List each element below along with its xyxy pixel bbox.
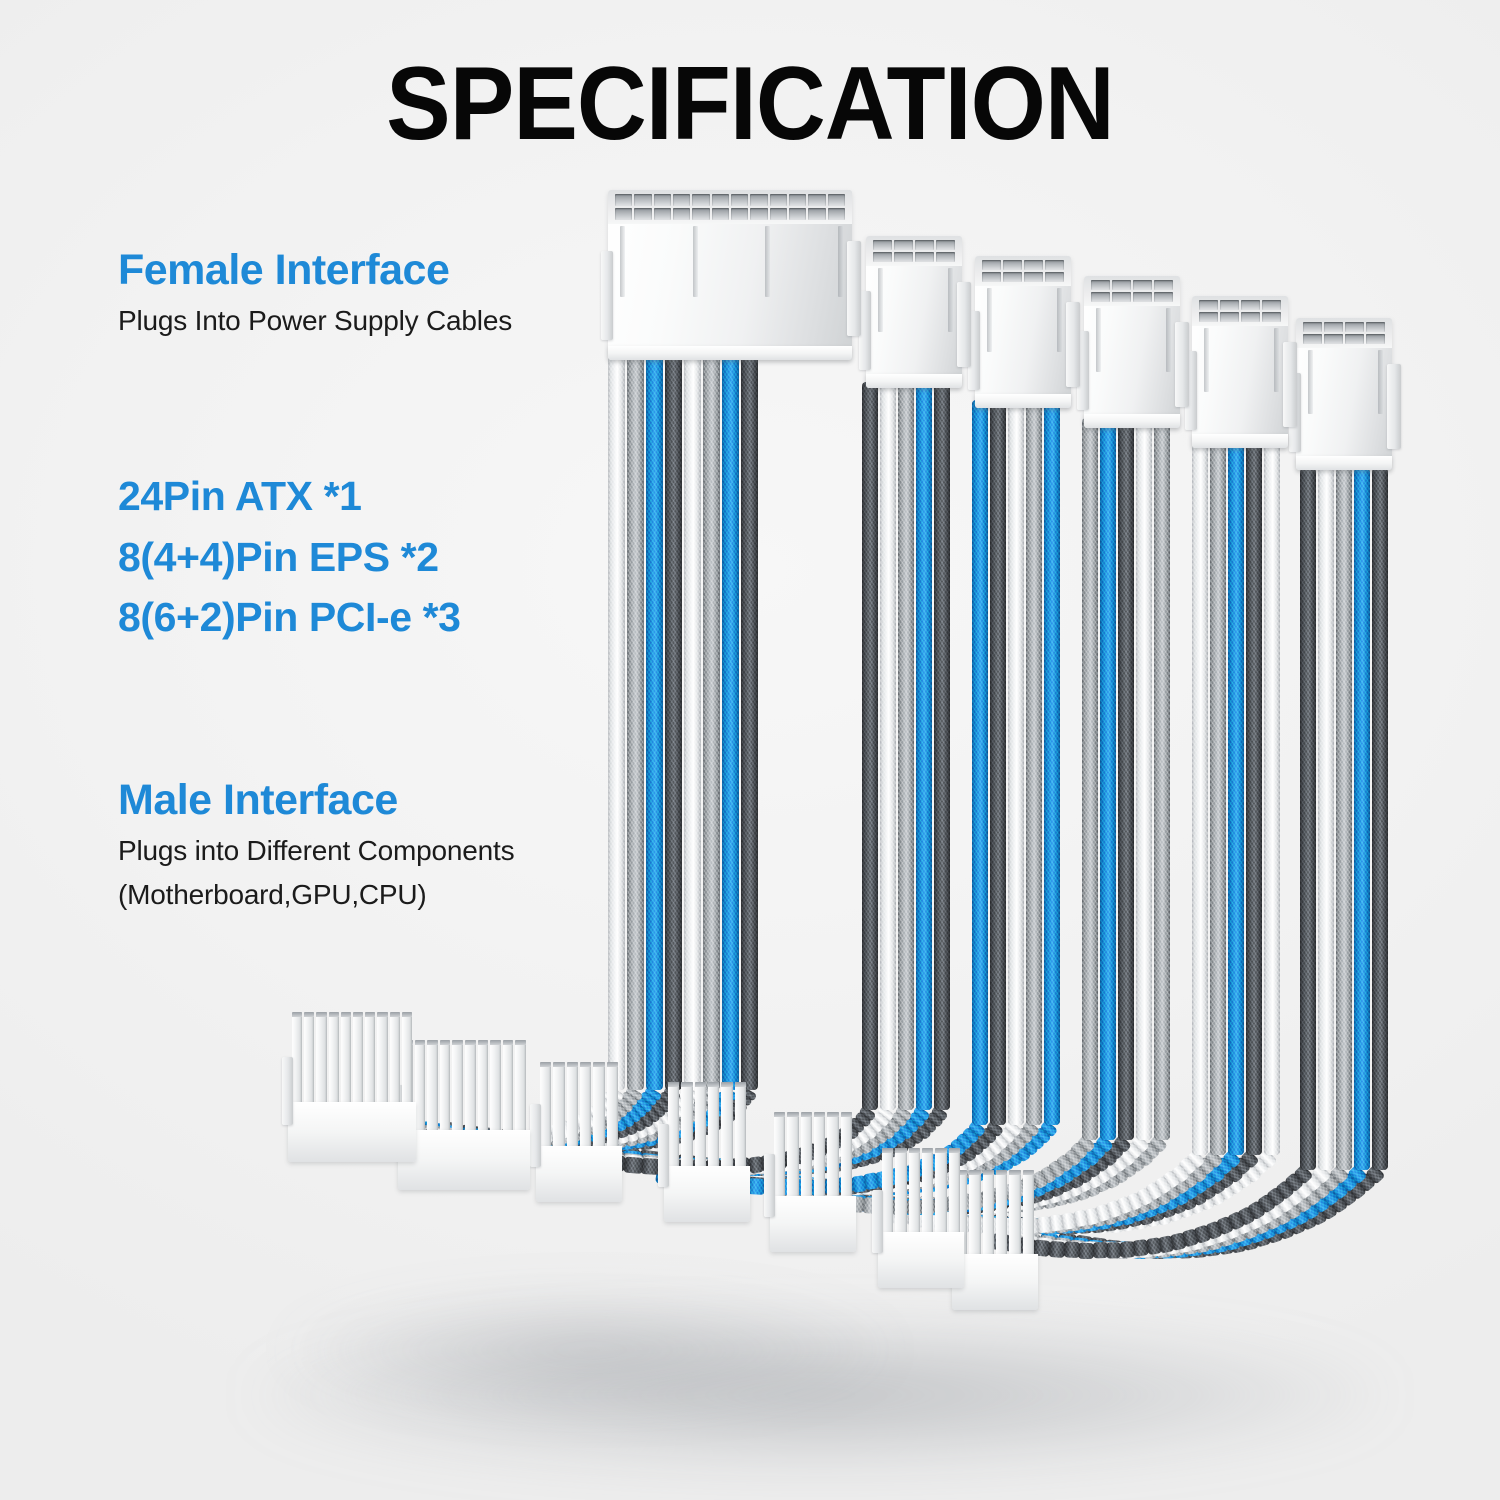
pin-blade <box>292 1012 302 1105</box>
cable-strand <box>1192 437 1208 1155</box>
pin-blade <box>708 1082 719 1169</box>
connector-rib <box>878 268 883 332</box>
pin-blade <box>365 1012 375 1105</box>
pin-hole <box>750 208 767 220</box>
connector-rib <box>1274 328 1279 392</box>
pin-hole <box>634 194 651 206</box>
pin-blade-cap <box>827 1112 838 1117</box>
pin-hole <box>1366 334 1385 344</box>
pin-blade-cap <box>814 1112 825 1117</box>
cable-strand-curve <box>1036 1216 1052 1233</box>
product-photo-cable-kit <box>0 0 1500 1500</box>
connector-collar <box>878 1232 964 1288</box>
pin-hole <box>1199 312 1218 322</box>
pin-blade <box>721 1082 732 1169</box>
pin-blade-cap <box>721 1082 732 1087</box>
pin-hole <box>1241 312 1260 322</box>
cable-strand <box>665 352 682 1090</box>
pin-blade <box>1009 1170 1020 1257</box>
pin-blade-cap <box>329 1012 339 1017</box>
pin-blade <box>316 1012 326 1105</box>
pin-hole <box>1112 280 1131 290</box>
pin-blade <box>969 1170 980 1257</box>
pin-blade-row <box>402 1040 526 1133</box>
connector-latch-rail <box>1175 322 1189 407</box>
connector-collar <box>1192 434 1288 448</box>
pin-hole <box>1003 260 1022 270</box>
pin-hole <box>1133 292 1152 302</box>
connector-collar <box>1296 456 1392 470</box>
cable-strand-curve <box>1092 1242 1108 1258</box>
female-connector-8pin-3 <box>1084 276 1180 428</box>
cable-strand <box>1154 418 1170 1140</box>
pin-hole <box>634 208 651 220</box>
connector-collar <box>952 1254 1038 1310</box>
pin-hole <box>1324 334 1343 344</box>
cable-strand <box>1026 400 1042 1125</box>
pin-blade <box>996 1170 1007 1257</box>
pin-blade <box>353 1012 363 1105</box>
pin-hole <box>1003 272 1022 282</box>
pin-blade-cap <box>503 1040 514 1045</box>
pin-blade <box>440 1040 451 1133</box>
pin-hole <box>1366 322 1385 332</box>
pin-blade-cap <box>841 1112 852 1117</box>
pin-blade-cap <box>353 1012 363 1017</box>
pin-blade <box>465 1040 476 1133</box>
connector-rib <box>1057 288 1062 352</box>
pin-hole <box>654 208 671 220</box>
cable-strand <box>898 382 914 1110</box>
pin-blade <box>341 1012 351 1105</box>
product-specification-canvas: SPECIFICATION Female Interface Plugs Int… <box>0 0 1500 1500</box>
pin-hole <box>915 240 934 250</box>
connector-collar <box>664 1166 750 1222</box>
pin-hole <box>894 252 913 262</box>
pin-blade-cap <box>983 1170 994 1175</box>
pin-hole <box>692 208 709 220</box>
pin-hole <box>808 208 825 220</box>
pin-hole <box>1220 300 1239 310</box>
pin-hole <box>1345 334 1364 344</box>
pin-blade <box>515 1040 526 1133</box>
female-connector-8pin-5 <box>1296 318 1392 470</box>
pin-hole <box>1262 300 1281 310</box>
connector-rib <box>1308 350 1313 414</box>
pin-blade-cap <box>478 1040 489 1045</box>
pin-blade <box>668 1082 679 1169</box>
pin-hole <box>1303 334 1322 344</box>
cable-strand-curve <box>1106 1242 1122 1259</box>
pin-hole <box>1045 272 1064 282</box>
pin-blade <box>801 1112 812 1199</box>
pin-blade <box>922 1148 933 1235</box>
connector-rib <box>620 226 625 297</box>
cable-strand <box>741 352 758 1090</box>
cable-strand-curve <box>623 1156 643 1173</box>
pin-blade-row <box>292 1012 412 1105</box>
pin-hole <box>770 208 787 220</box>
cable-strand <box>880 382 896 1110</box>
pin-blade <box>787 1112 798 1199</box>
pin-blade-cap <box>304 1012 314 1017</box>
pin-blade <box>567 1062 578 1149</box>
cable-strand <box>1044 400 1060 1125</box>
connector-collar <box>1084 414 1180 428</box>
pin-blade <box>503 1040 514 1133</box>
pin-hole <box>615 208 632 220</box>
cable-strand <box>1372 468 1388 1170</box>
pin-blade <box>329 1012 339 1105</box>
pin-hole <box>1154 280 1173 290</box>
pin-blade-cap <box>909 1148 920 1153</box>
pin-blade-cap <box>377 1012 387 1017</box>
pin-blade <box>402 1012 412 1105</box>
pin-blade <box>983 1170 994 1257</box>
pin-blade-cap <box>935 1148 946 1153</box>
pin-blade <box>909 1148 920 1235</box>
cable-strand-curve <box>1063 1242 1080 1259</box>
pin-blade-cap <box>801 1112 812 1117</box>
pin-hole <box>828 194 845 206</box>
pin-blade-cap <box>465 1040 476 1045</box>
pin-hole <box>712 208 729 220</box>
pin-hole <box>1199 300 1218 310</box>
pin-hole <box>750 194 767 206</box>
pin-hole <box>1045 260 1064 270</box>
pin-blade-cap <box>553 1062 564 1067</box>
connector-latch-rail <box>601 251 613 339</box>
pin-blade-cap <box>1009 1170 1020 1175</box>
connector-collar <box>536 1146 622 1202</box>
connector-latch-rail <box>872 1190 883 1253</box>
pin-blade-cap <box>969 1170 980 1175</box>
pin-hole <box>1220 312 1239 322</box>
cable-strand <box>916 382 932 1110</box>
pin-blade-cap <box>1023 1170 1034 1175</box>
pin-blade-cap <box>593 1062 604 1067</box>
pin-hole-grid <box>873 240 955 262</box>
pin-blade <box>814 1112 825 1199</box>
pin-blade-cap <box>708 1082 719 1087</box>
male-connector-24pin-atx-part1 <box>288 1012 416 1162</box>
pin-hole <box>1262 312 1281 322</box>
pin-hole <box>982 260 1001 270</box>
pin-hole <box>1241 300 1260 310</box>
pin-blade-cap <box>415 1040 426 1045</box>
cable-strand <box>703 352 720 1090</box>
pin-blade-cap <box>292 1012 302 1017</box>
pin-blade-cap <box>735 1082 746 1087</box>
connector-rib <box>693 226 698 297</box>
pin-hole-grid <box>982 260 1064 282</box>
connector-rib <box>1204 328 1209 392</box>
pin-hole <box>1091 292 1110 302</box>
pin-blade-cap <box>316 1012 326 1017</box>
pin-hole <box>673 194 690 206</box>
cable-strand <box>608 352 625 1090</box>
cable-strand <box>862 382 878 1110</box>
cable-strand <box>1082 418 1098 1140</box>
cable-strand <box>990 400 1006 1125</box>
pin-hole <box>808 194 825 206</box>
pin-blade-cap <box>365 1012 375 1017</box>
cable-strand <box>1136 418 1152 1140</box>
connector-rib <box>765 226 770 297</box>
pin-blade-row <box>882 1148 960 1235</box>
pin-hole <box>615 194 632 206</box>
male-connector-8pin-2 <box>664 1082 750 1222</box>
male-connector-8pin-1 <box>536 1062 622 1202</box>
pin-blade <box>415 1040 426 1133</box>
pin-blade <box>774 1112 785 1199</box>
cable-strand <box>1246 437 1262 1155</box>
cable-strand <box>1354 468 1370 1170</box>
connector-latch-rail <box>658 1124 669 1187</box>
pin-blade <box>607 1062 618 1149</box>
pin-hole <box>1024 260 1043 270</box>
connector-collar <box>770 1196 856 1252</box>
pin-blade <box>841 1112 852 1199</box>
cable-strand <box>1228 437 1244 1155</box>
connector-collar <box>608 346 852 360</box>
pin-blade <box>490 1040 501 1133</box>
pin-hole <box>692 194 709 206</box>
pin-blade <box>304 1012 314 1105</box>
cable-strand-curve <box>1048 1241 1065 1258</box>
cable-strand <box>1100 418 1116 1140</box>
pin-hole-grid <box>615 194 845 220</box>
pin-hole <box>1154 292 1173 302</box>
pin-blade <box>478 1040 489 1133</box>
pin-hole <box>673 208 690 220</box>
pin-blade-cap <box>390 1012 400 1017</box>
connector-latch-rail <box>764 1154 775 1217</box>
female-connector-8pin-4 <box>1192 296 1288 448</box>
pin-blade-cap <box>580 1062 591 1067</box>
male-connector-24pin-atx-part2 <box>398 1040 530 1190</box>
pin-blade <box>735 1082 746 1169</box>
pin-blade-cap <box>607 1062 618 1067</box>
pin-blade <box>882 1148 893 1235</box>
pin-hole <box>873 240 892 250</box>
pin-hole <box>982 272 1001 282</box>
cable-strand <box>934 382 950 1110</box>
pin-blade <box>377 1012 387 1105</box>
pin-blade-cap <box>341 1012 351 1017</box>
male-connector-8pin-3 <box>770 1112 856 1252</box>
pin-blade <box>427 1040 438 1133</box>
pin-blade-row <box>668 1082 746 1169</box>
cable-strand <box>646 352 663 1090</box>
pin-blade-cap <box>787 1112 798 1117</box>
pin-hole <box>1112 292 1131 302</box>
cable-strand <box>1210 437 1226 1155</box>
connector-latch-rail <box>1387 364 1401 449</box>
connector-collar <box>398 1130 530 1190</box>
connector-latch-rail <box>1283 342 1297 427</box>
connector-latch-rail <box>282 1057 293 1125</box>
cable-strand <box>627 352 644 1090</box>
pin-hole <box>1091 280 1110 290</box>
pin-hole <box>712 194 729 206</box>
pin-blade-cap <box>452 1040 463 1045</box>
pin-blade <box>895 1148 906 1235</box>
pin-hole <box>731 208 748 220</box>
connector-collar <box>288 1102 416 1162</box>
pin-hole <box>731 194 748 206</box>
pin-hole <box>1303 322 1322 332</box>
female-connector-24pin-atx <box>608 190 852 360</box>
cable-strand <box>1300 468 1316 1170</box>
male-connector-8pin-5 <box>952 1170 1038 1310</box>
cable-strand-curve <box>1078 1242 1094 1258</box>
connector-rib <box>1166 308 1171 372</box>
bundle-ground-shadow-left <box>280 1290 900 1410</box>
pin-blade-cap <box>882 1148 893 1153</box>
male-connector-8pin-4 <box>878 1148 964 1288</box>
pin-blade-cap <box>922 1148 933 1153</box>
connector-latch-rail <box>530 1104 541 1167</box>
pin-blade <box>580 1062 591 1149</box>
pin-blade-cap <box>895 1148 906 1153</box>
cable-strand <box>1318 468 1334 1170</box>
pin-blade-cap <box>996 1170 1007 1175</box>
pin-hole <box>936 252 955 262</box>
pin-blade-cap <box>540 1062 551 1067</box>
pin-blade <box>681 1082 692 1169</box>
pin-blade-row <box>540 1062 618 1149</box>
pin-hole-grid <box>1199 300 1281 322</box>
pin-blade <box>553 1062 564 1149</box>
pin-hole <box>1024 272 1043 282</box>
pin-blade <box>452 1040 463 1133</box>
cable-strand <box>972 400 988 1125</box>
connector-rib <box>987 288 992 352</box>
pin-blade <box>695 1082 706 1169</box>
pin-hole <box>789 194 806 206</box>
connector-rib <box>838 226 843 297</box>
pin-hole <box>654 194 671 206</box>
cable-strand <box>1008 400 1024 1125</box>
pin-hole <box>873 252 892 262</box>
pin-blade-cap <box>668 1082 679 1087</box>
female-connector-8pin-2 <box>975 256 1071 408</box>
pin-blade <box>540 1062 551 1149</box>
pin-hole <box>936 240 955 250</box>
connector-collar <box>866 374 962 388</box>
connector-rib <box>948 268 953 332</box>
connector-rib <box>1096 308 1101 372</box>
cable-strand <box>1118 418 1134 1140</box>
pin-hole <box>789 208 806 220</box>
pin-blade-cap <box>427 1040 438 1045</box>
cable-strand-curve <box>1119 1241 1135 1258</box>
pin-blade <box>827 1112 838 1199</box>
pin-hole <box>915 252 934 262</box>
cable-strand <box>684 352 701 1090</box>
pin-blade-row <box>774 1112 852 1199</box>
cable-strand <box>1336 468 1352 1170</box>
connector-collar <box>975 394 1071 408</box>
connector-rib <box>1378 350 1383 414</box>
pin-blade-cap <box>774 1112 785 1117</box>
pin-blade <box>390 1012 400 1105</box>
pin-blade-cap <box>440 1040 451 1045</box>
pin-blade <box>935 1148 946 1235</box>
pin-blade <box>593 1062 604 1149</box>
pin-blade-cap <box>515 1040 526 1045</box>
cable-strand <box>1264 437 1280 1155</box>
connector-latch-rail <box>847 241 861 336</box>
connector-latch-rail <box>957 282 971 367</box>
pin-hole <box>894 240 913 250</box>
pin-hole <box>1324 322 1343 332</box>
pin-hole <box>828 208 845 220</box>
female-connector-8pin-1 <box>866 236 962 388</box>
connector-latch-rail <box>1066 302 1080 387</box>
pin-blade-cap <box>949 1148 960 1153</box>
pin-blade <box>949 1148 960 1235</box>
pin-blade-cap <box>567 1062 578 1067</box>
pin-blade <box>1023 1170 1034 1257</box>
pin-blade-cap <box>490 1040 501 1045</box>
pin-hole <box>770 194 787 206</box>
pin-blade-cap <box>695 1082 706 1087</box>
pin-hole-grid <box>1303 322 1385 344</box>
pin-blade-row <box>956 1170 1034 1257</box>
pin-hole <box>1345 322 1364 332</box>
pin-blade-cap <box>402 1012 412 1017</box>
pin-hole-grid <box>1091 280 1173 302</box>
pin-hole <box>1133 280 1152 290</box>
cable-strand <box>722 352 739 1090</box>
pin-blade-cap <box>681 1082 692 1087</box>
